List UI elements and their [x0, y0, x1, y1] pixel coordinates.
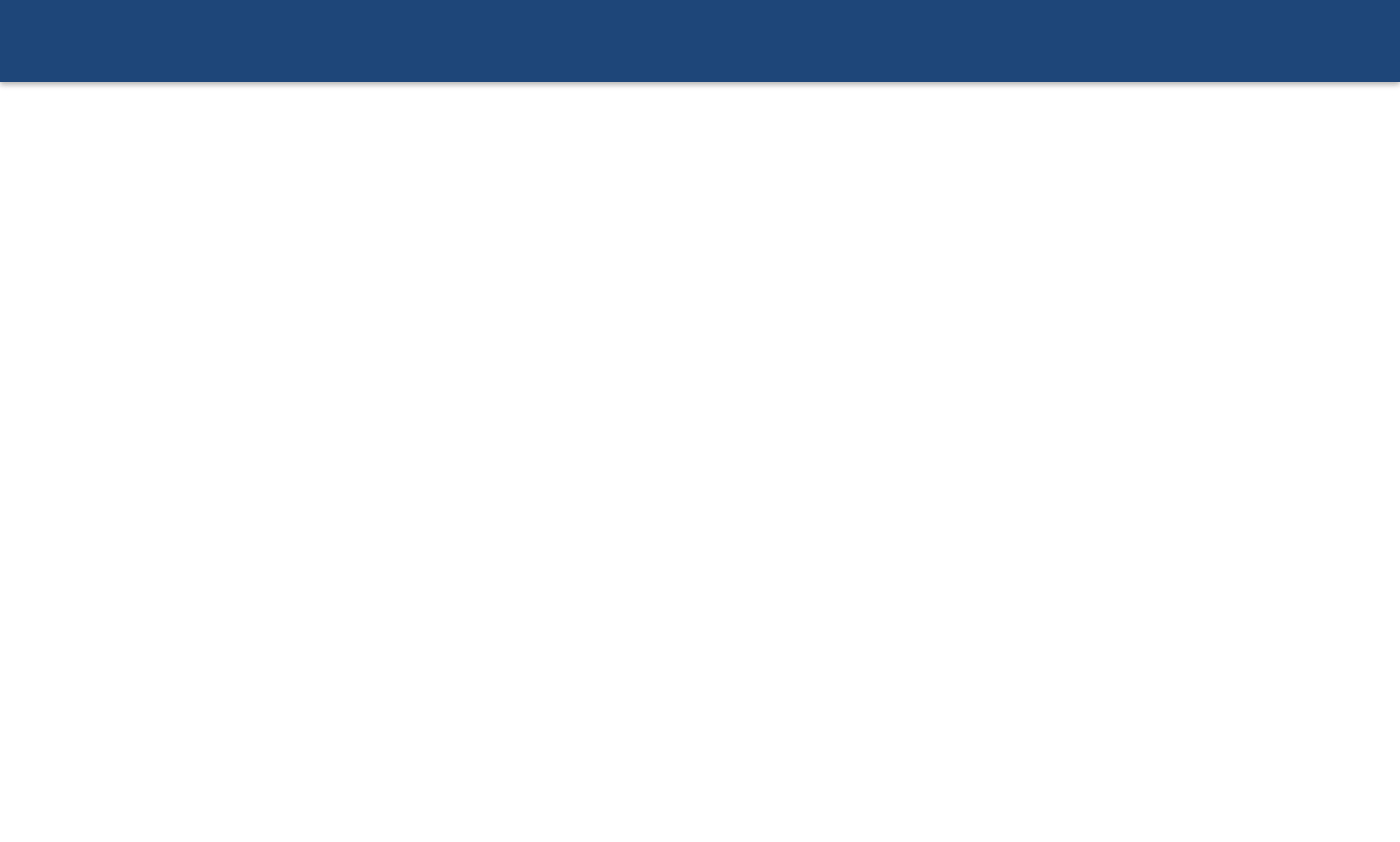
chart-legend [749, 417, 899, 430]
header-band [0, 0, 1400, 82]
co-occurrence-network-graph [0, 0, 760, 842]
legend-frequency-circles [749, 506, 899, 761]
